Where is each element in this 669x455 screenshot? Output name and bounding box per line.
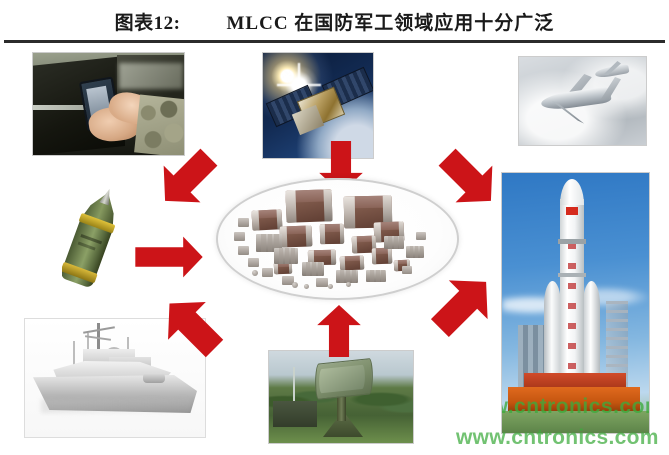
chip-tiny-3	[238, 246, 249, 255]
rocket-band-upper	[558, 239, 586, 244]
chip-dot-2	[304, 284, 309, 289]
radar-antenna-photo	[269, 351, 413, 443]
application-image-military-aircraft	[518, 56, 647, 146]
arrow-to-artillery-shell	[130, 226, 208, 288]
chip-dot-4	[346, 282, 351, 287]
military-aircraft-photo	[519, 57, 646, 145]
radar-dish-surface	[319, 365, 365, 394]
rocket-launch-photo: www.cntronics.com	[502, 173, 649, 433]
figure-page: 图表12: MLCC 在国防军工领域应用十分广泛	[0, 0, 669, 455]
soldier-device-photo	[33, 53, 184, 155]
ship-antenna-1	[73, 341, 75, 367]
chip-tiny-5	[262, 268, 273, 277]
capacitor-array-3	[302, 262, 324, 276]
application-image-radar	[268, 350, 414, 444]
chip-tiny-8	[402, 266, 412, 274]
daylight-glare	[119, 63, 183, 89]
artillery-shell-photo	[62, 188, 128, 292]
capacitor-medium-3	[320, 224, 344, 244]
figure-header: 图表12: MLCC 在国防军工领域应用十分广泛	[0, 0, 669, 44]
capacitor-array-2	[274, 248, 298, 264]
shell-group	[62, 188, 128, 292]
capacitor-array-7	[406, 246, 424, 258]
shell-fuze-tip	[99, 188, 114, 206]
chip-tiny-7	[316, 278, 328, 287]
equipment-shelter	[273, 401, 317, 427]
mlcc-capacitor-cluster	[216, 178, 459, 300]
ship-gun-turret	[143, 373, 165, 383]
chip-dot-3	[328, 284, 333, 289]
capacitor-array-6	[384, 236, 404, 249]
application-image-artillery-shell	[62, 188, 128, 292]
capacitor-small-3	[372, 248, 393, 265]
chip-dot-1	[292, 282, 298, 288]
application-image-soldier-handheld	[32, 52, 185, 156]
capacitor-large-1	[285, 189, 332, 223]
chip-tiny-1	[238, 218, 249, 227]
capacitor-array-4	[336, 270, 358, 283]
national-flag-marking	[566, 207, 578, 215]
chip-tiny-2	[234, 232, 245, 241]
chip-tiny-4	[248, 258, 259, 267]
header-divider	[4, 40, 665, 43]
chip-dot-5	[252, 270, 258, 276]
capacitor-small-2	[340, 256, 364, 271]
rocket-markings	[568, 229, 576, 379]
ship-waterline-shadow	[41, 399, 191, 413]
capacitor-array-5	[366, 270, 386, 282]
figure-title-row: 图表12: MLCC 在国防军工领域应用十分广泛	[0, 4, 669, 38]
watermark-overlay: www.cntronics.com	[502, 395, 649, 419]
capacitor-medium-2	[280, 225, 313, 247]
application-image-carrier-rocket: www.cntronics.com	[501, 172, 650, 434]
chip-tiny-9	[416, 232, 426, 240]
rocket-band-lower	[558, 273, 586, 277]
capacitor-medium-1	[251, 209, 282, 231]
arrow-to-radar	[308, 300, 370, 362]
figure-number-label: 图表12:	[115, 8, 181, 35]
page-title: MLCC 在国防军工领域应用十分广泛	[227, 8, 555, 35]
